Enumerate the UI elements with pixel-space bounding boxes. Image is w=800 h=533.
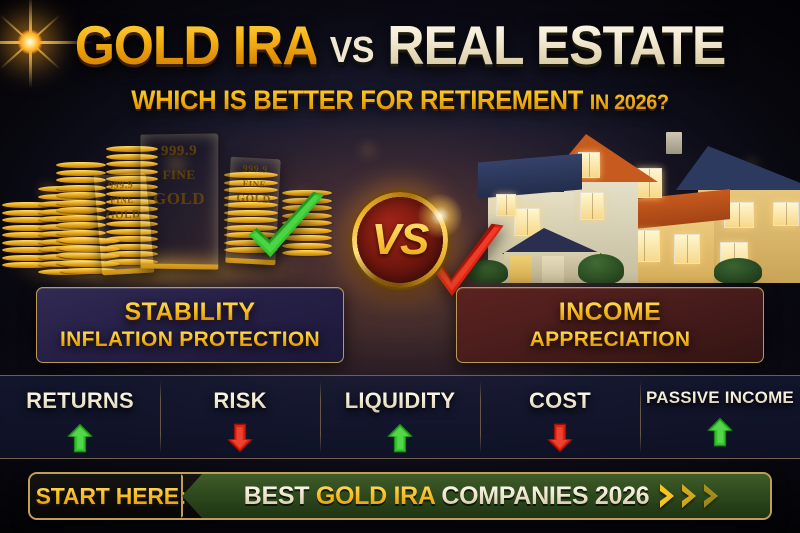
house-porch-roof — [502, 228, 602, 254]
gold-bar-center: 999.9 FINE GOLD — [140, 133, 218, 269]
house-door — [542, 256, 564, 283]
house-window — [580, 192, 604, 220]
metric-cost: COST — [480, 376, 640, 458]
house-window — [773, 202, 799, 226]
cta-main-section[interactable]: BEST GOLD IRA COMPANIES 2026 — [182, 474, 770, 518]
gold-bar-metal: GOLD — [140, 189, 218, 209]
panel-gold-benefits: STABILITY INFLATION PROTECTION — [36, 287, 344, 363]
headline-gold-ira: GOLD IRA — [75, 14, 317, 76]
green-up-arrow-icon — [66, 423, 94, 453]
house-door — [510, 256, 532, 283]
gold-bar-fine: FINE — [229, 178, 279, 191]
bush — [578, 254, 624, 283]
house-illustration — [468, 130, 800, 283]
cta-prefix-section[interactable]: START HERE: — [30, 474, 202, 518]
house-window — [674, 234, 700, 264]
metric-label: RISK — [213, 388, 266, 414]
vs-badge: VS — [352, 192, 448, 288]
metric-label: LIQUIDITY — [345, 388, 456, 414]
headline-vs: VS — [330, 29, 374, 70]
gold-bars-illustration: 999.9 FINE GOLD 999.9 FINE GOLD 999.9 FI… — [0, 128, 354, 283]
triple-chevron-right-icon — [658, 483, 722, 509]
subheadline-year: IN 2026? — [590, 91, 669, 114]
green-up-arrow-icon — [706, 417, 734, 447]
house-chimney — [666, 132, 682, 154]
metric-label: PASSIVE INCOME — [646, 388, 794, 408]
metrics-row: RETURNS RISK LIQUIDITY COST PASSIVE — [0, 375, 800, 459]
metric-label: RETURNS — [26, 388, 134, 414]
panel-right-subtitle: APPRECIATION — [530, 329, 691, 351]
panel-left-subtitle: INFLATION PROTECTION — [60, 329, 320, 351]
subheadline-main: WHICH IS BETTER FOR RETIREMENT — [131, 85, 583, 115]
title-block: GOLD IRA VS REAL ESTATE WHICH IS BETTER … — [0, 18, 800, 116]
headline: GOLD IRA VS REAL ESTATE — [24, 18, 776, 73]
panel-left-title: STABILITY — [125, 299, 256, 325]
metric-label: COST — [529, 388, 591, 414]
headline-real-estate: REAL ESTATE — [387, 14, 725, 76]
panel-right-title: INCOME — [559, 299, 661, 325]
green-check-icon — [242, 190, 328, 276]
gold-bar-purity: 999.9 — [140, 142, 218, 160]
bush — [714, 258, 762, 283]
metric-liquidity: LIQUIDITY — [320, 376, 480, 458]
house-roof — [676, 146, 800, 190]
gold-bar-purity: 999.9 — [230, 163, 281, 177]
green-up-arrow-icon — [386, 423, 414, 453]
cta-text-part2: COMPANIES 2026 — [435, 482, 650, 510]
metric-returns: RETURNS — [0, 376, 160, 458]
gold-bar-fine: FINE — [140, 167, 218, 183]
red-down-arrow-icon — [546, 423, 574, 453]
cta-text-part1: BEST — [244, 482, 316, 510]
red-down-arrow-icon — [226, 423, 254, 453]
cta-text-gold: GOLD IRA — [316, 482, 435, 510]
vs-badge-label: VS — [357, 197, 443, 283]
subheadline: WHICH IS BETTER FOR RETIREMENT IN 2026? — [20, 85, 780, 116]
cta-main-label: BEST GOLD IRA COMPANIES 2026 — [244, 482, 650, 511]
gold-bar-purity: 999.9 — [94, 179, 147, 193]
house-window — [496, 194, 516, 216]
panel-realestate-benefits: INCOME APPRECIATION — [456, 287, 764, 363]
cta-banner[interactable]: START HERE: BEST GOLD IRA COMPANIES 2026 — [28, 472, 772, 520]
metric-passive-income: PASSIVE INCOME — [640, 376, 800, 458]
metric-risk: RISK — [160, 376, 320, 458]
cta-prefix-label: START HERE: — [36, 483, 187, 510]
